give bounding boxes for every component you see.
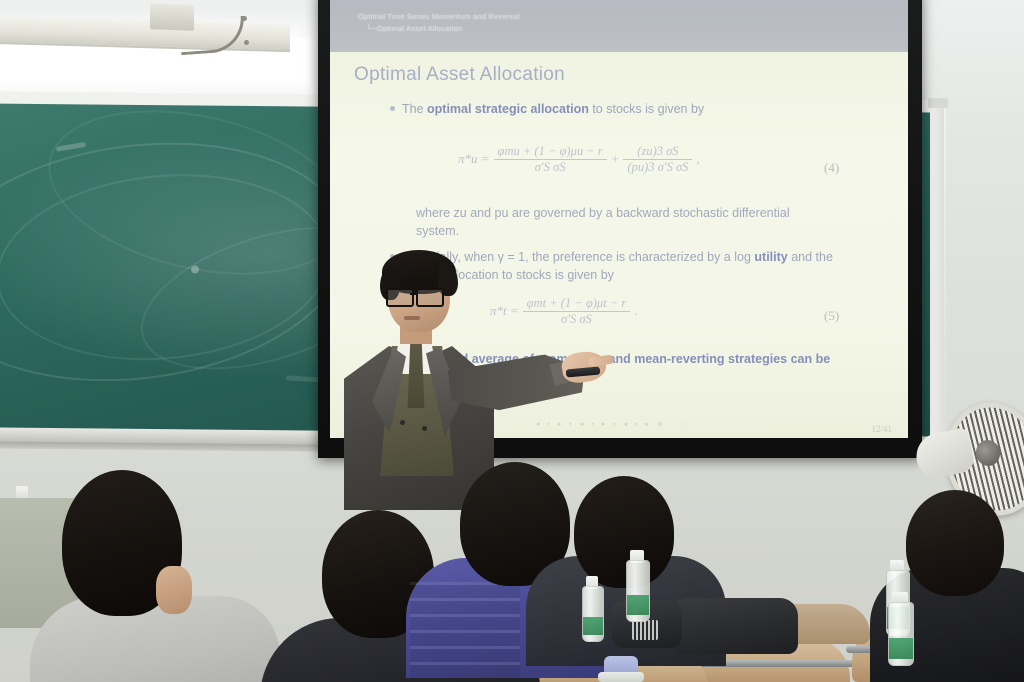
where-clause: where zu and pu are governed by a backwa… [416,204,836,240]
water-bottle [626,550,648,620]
whiteboard-edge-cap [928,98,948,108]
backpack [672,598,798,654]
bag-mesh-pocket [632,620,658,640]
slide-page-number: 12/41 [871,424,892,434]
slide-header-band: Optimal Time Series Momentum and Reversa… [330,0,908,52]
wall-screw [242,16,247,21]
slide-header-line1: Optimal Time Series Momentum and Reversa… [358,12,520,21]
wall-screw [244,40,249,45]
attendee-head [906,490,1004,596]
whiteboard-edge-strip [930,100,944,448]
lecture-hall-scene: Optimal Time Series Momentum and Reversa… [0,0,1024,682]
attendee-grey-hoodie [40,470,270,682]
bottle-body [626,560,650,622]
bottle-body [888,602,914,666]
equation-4: π*u = φmu + (1 − φ)μu − r σ′S σS + (zu)3… [458,144,700,175]
equation-4-number: (4) [824,160,839,176]
slide-title: Optimal Asset Allocation [354,64,565,86]
equation-5-tail: . [634,303,637,318]
equation-4-plus: + [611,151,620,166]
glasses-lens-left-icon [386,288,414,307]
glasses-lens-right-icon [416,288,444,307]
speaker-mouth [404,316,420,320]
glasses-bridge-icon [410,293,418,295]
water-bottle [888,592,912,664]
water-bottle [582,576,602,640]
bullet-dot-icon [390,106,395,111]
bottle-neck [598,672,644,682]
attendee-head [574,476,674,588]
equation-4-lhs: π*u = [458,151,490,166]
attendee-hand [156,566,192,614]
hoodie-body [30,596,280,682]
bottle-label [627,595,649,615]
bottle-label [583,617,603,635]
bottle-body [582,586,604,642]
coat-button [422,426,427,431]
slide-header-line2: └─Optimal Asset Allocation [366,24,462,33]
bullet-1-text: The optimal strategic allocation to stoc… [402,100,704,118]
equation-4-fraction-2: (zu)3 σS (pu)3 σ′S σS [623,144,692,175]
slide-bullet-1: The optimal strategic allocation to stoc… [390,100,860,118]
equation-4-fraction-1: φmu + (1 − φ)μu − r σ′S σS [494,144,607,175]
equation-4-tail: , [696,151,699,166]
bottle-label [889,638,913,659]
equation-5-number: (5) [824,308,839,324]
puffer-quilting [410,582,520,678]
coat-button [400,420,405,425]
